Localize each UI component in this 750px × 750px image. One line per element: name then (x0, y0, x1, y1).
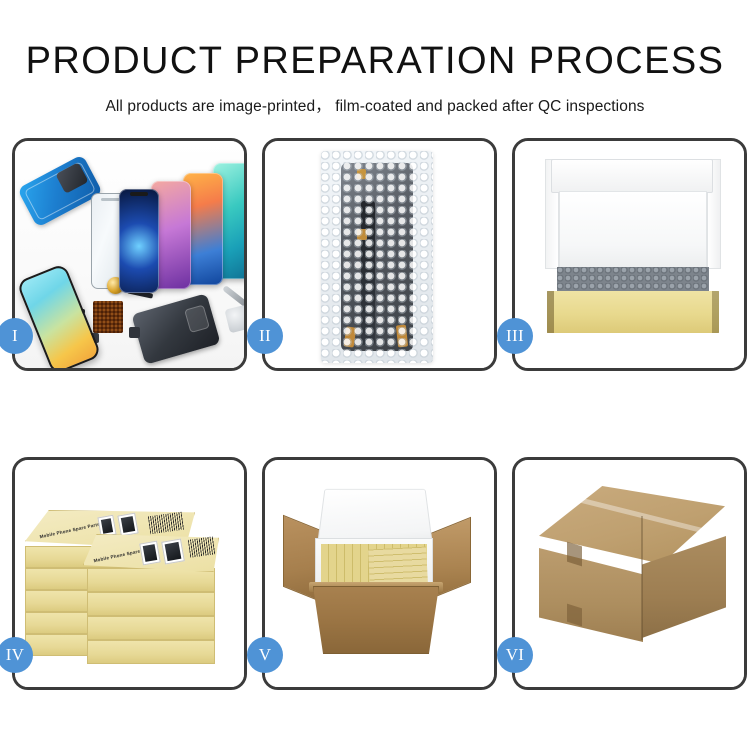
process-step-panel-6: VI (512, 457, 747, 690)
box-print-window (117, 513, 138, 537)
step-3-image (515, 141, 744, 368)
carton-front-graphic (313, 586, 439, 654)
stacked-box (87, 616, 215, 640)
small-part-graphic-3 (129, 327, 140, 338)
carton-vertical-edge-graphic (641, 516, 643, 640)
step-4-image: Mobile Phone Spare Parts Mobile Phone Sp… (15, 460, 244, 687)
screwdriver-tool-graphic (222, 285, 244, 307)
phone-graphic-1 (119, 189, 159, 293)
step-6-image (515, 460, 744, 687)
box-print-window (97, 515, 116, 537)
box-print-window (139, 541, 161, 566)
step-badge-5: V (247, 637, 283, 673)
foam-liner-lid-graphic (317, 489, 433, 545)
bubble-pack-inside-graphic (557, 267, 709, 293)
page-subtitle: All products are image-printed， film-coa… (0, 94, 750, 116)
stacked-box (87, 640, 215, 664)
copper-grid-part-graphic (93, 301, 123, 333)
stacked-box (87, 568, 215, 592)
step-5-image (265, 460, 494, 687)
tweezers-tool-graphic (224, 305, 244, 334)
box-print-window (161, 538, 185, 564)
box-print-barcode (188, 536, 216, 557)
bubble-wrap-overlay-graphic (321, 151, 433, 363)
process-step-panel-4: Mobile Phone Spare Parts Mobile Phone Sp… (12, 457, 247, 690)
process-step-panel-2: II (262, 138, 497, 371)
process-step-grid: I II III (12, 138, 740, 690)
stacked-box (87, 592, 215, 616)
tilted-phone-graphic (16, 263, 102, 368)
page-header: PRODUCT PREPARATION PROCESS All products… (0, 0, 750, 116)
inner-boxes-graphic-2 (368, 547, 428, 586)
step-badge-3: III (497, 318, 533, 354)
box-stack-graphic: Mobile Phone Spare Parts Mobile Phone Sp… (21, 472, 237, 676)
yellow-box-tray-graphic (547, 291, 719, 333)
step-1-image (15, 141, 244, 368)
process-step-panel-1: I (12, 138, 247, 371)
process-step-panel-3: III (512, 138, 747, 371)
carton-left-face-graphic (539, 548, 643, 642)
foam-sheet-graphic (559, 191, 707, 269)
page-title: PRODUCT PREPARATION PROCESS (0, 42, 750, 80)
phone-back-housing-graphic (131, 293, 220, 364)
foam-lid-graphic (551, 159, 713, 193)
step-2-image (265, 141, 494, 368)
step-badge-6: VI (497, 637, 533, 673)
process-step-panel-5: V (262, 457, 497, 690)
step-badge-2: II (247, 318, 283, 354)
